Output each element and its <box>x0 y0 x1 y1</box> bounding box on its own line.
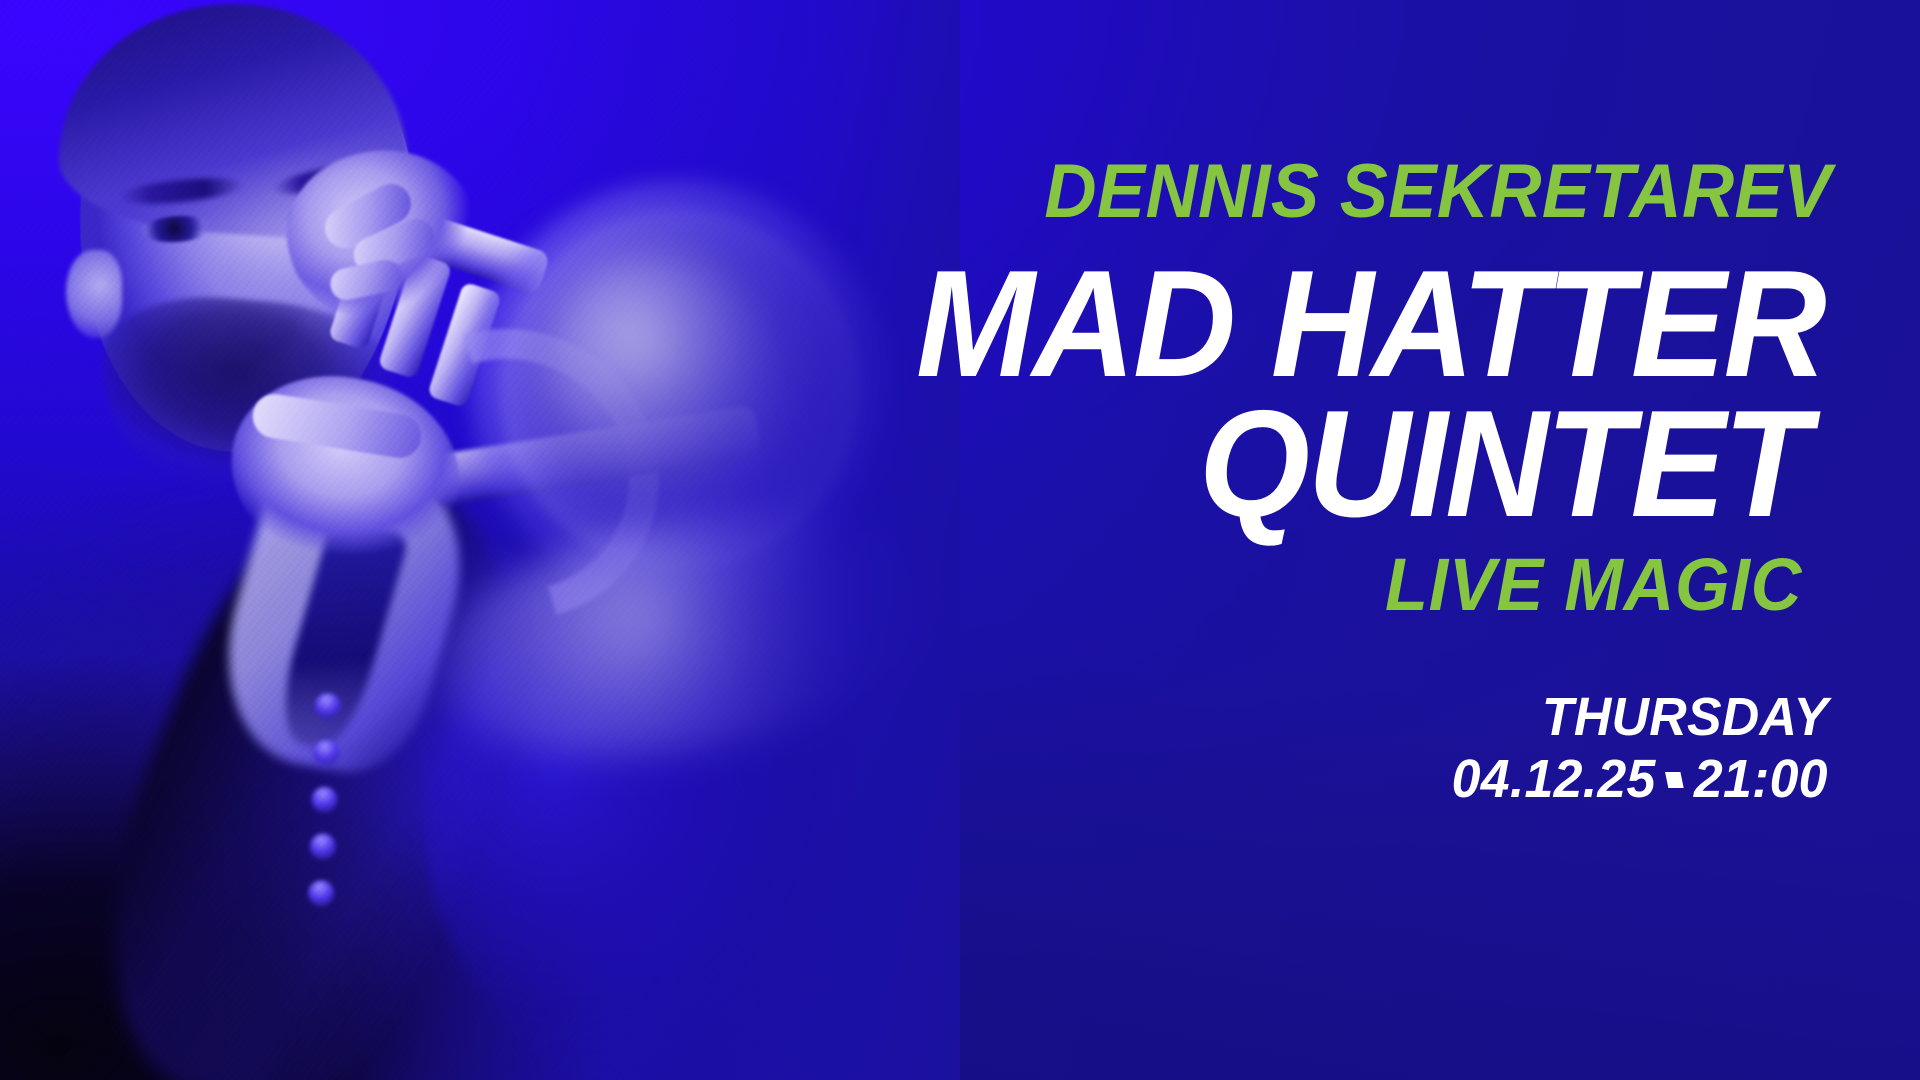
event-date-time: 04.12.2521:00 <box>1452 752 1828 806</box>
title-line-2: QUINTET <box>1199 388 1808 540</box>
poster-text-layer: DENNIS SEKRETAREV MAD HATTER QUINTET LIV… <box>0 0 1920 1080</box>
event-time: 21:00 <box>1694 749 1828 809</box>
artist-name: DENNIS SEKRETAREV <box>1045 154 1832 230</box>
title-line-1: MAD HATTER <box>916 248 1824 400</box>
concert-poster: DENNIS SEKRETAREV MAD HATTER QUINTET LIV… <box>0 0 1920 1080</box>
square-bullet-icon <box>1666 772 1685 788</box>
event-day: THURSDAY <box>1542 690 1828 744</box>
tagline: LIVE MAGIC <box>1385 548 1802 622</box>
event-date: 04.12.25 <box>1452 749 1656 809</box>
